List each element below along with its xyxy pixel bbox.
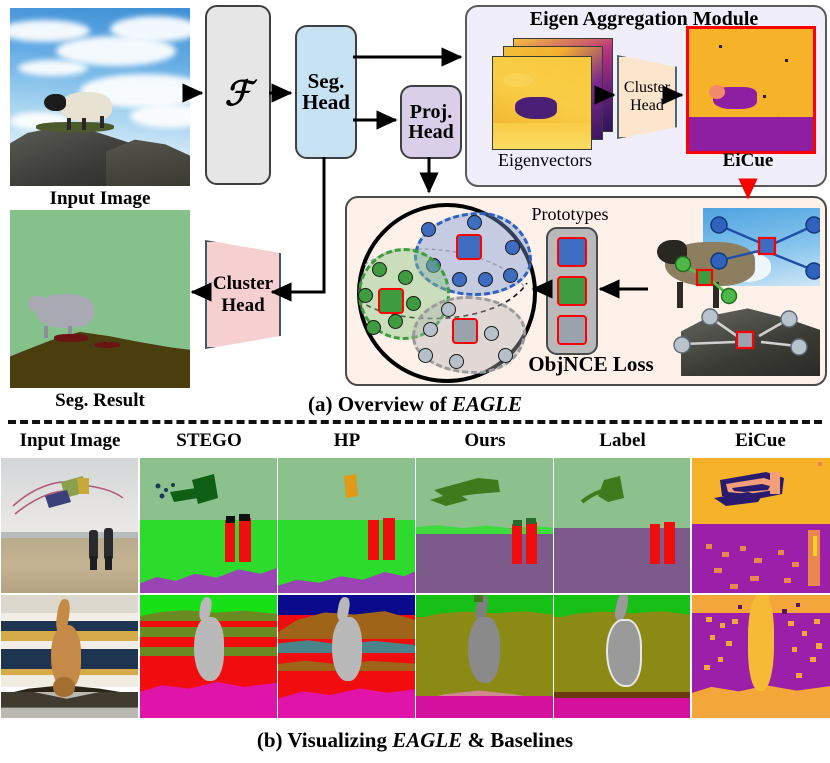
cell-row1-stego [140,458,277,593]
cell-row2-input [1,595,138,718]
panel-b-caption-prefix: (b) Visualizing [257,728,392,752]
cell-row2-stego [140,595,277,718]
cell-row2-ours [416,595,553,718]
cell-row1-label [554,458,690,593]
column-header-eicue: EiCue [691,430,830,452]
panel-b-caption-em: EAGLE [392,728,462,752]
column-header-label: Label [554,430,691,452]
cell-row1-hp [278,458,415,593]
panel-b-caption-suffix: & Baselines [462,728,573,752]
column-header-ours: Ours [416,430,554,452]
cell-row2-hp [278,595,415,718]
cell-row2-label [554,595,690,718]
cell-row1-ours [416,458,553,593]
panel-comparison: Input Image STEGO HP Ours Label EiCue [0,0,830,763]
panel-b-caption: (b) Visualizing EAGLE & Baselines [0,728,830,753]
column-header-hp: HP [278,430,416,452]
column-header-input-image: Input Image [0,430,140,452]
cell-row1-eicue [692,458,830,593]
column-header-stego: STEGO [140,430,278,452]
cell-row1-input [1,458,138,593]
cell-row2-eicue [692,595,830,718]
